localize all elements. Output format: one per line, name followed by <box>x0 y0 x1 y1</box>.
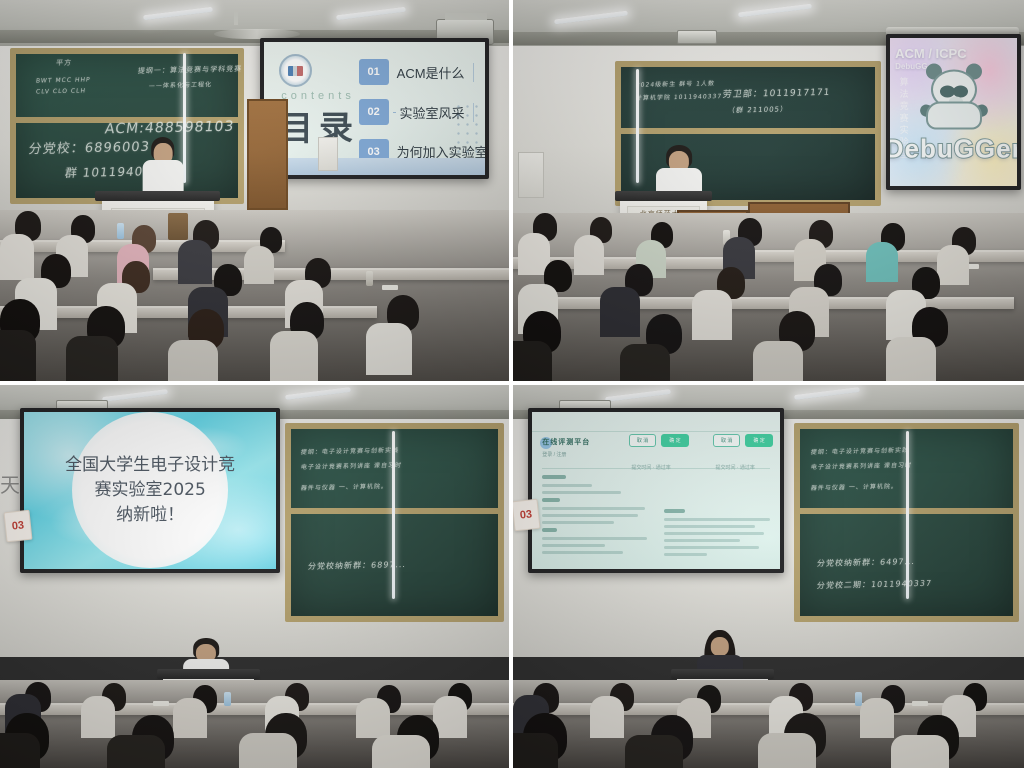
wall-graphic: 天 <box>0 469 21 498</box>
poster-badge: 03 <box>4 510 33 543</box>
agenda-item: 01 ACM是什么 <box>359 59 474 85</box>
collage-panel-bottom-left: 全国大学生电子设计竞 赛实验室2025 纳新啦！ 提纲：电子设计竞赛与创新实践 … <box>0 385 509 768</box>
collage-panel-bottom-right: 在线评测平台 登录 / 注册 取 消 确 定 取 消 确 定 提交时间 · 通过… <box>513 385 1024 768</box>
chalk-line: 器件与仪器 一、计算机院。 <box>810 481 898 492</box>
chalk-line: （群 211005） <box>727 105 788 116</box>
slide-text-block: 全国大学生电子设计竞 赛实验室2025 纳新啦！ <box>42 453 258 527</box>
chalk-line: 2024级新生 群号 1人数 <box>636 78 716 89</box>
button-group-right: 取 消 确 定 <box>713 434 773 447</box>
classroom-scene: 在线评测平台 登录 / 注册 取 消 确 定 取 消 确 定 提交时间 · 通过… <box>513 385 1024 768</box>
fan-rod <box>234 11 238 25</box>
app-subtitle: 登录 / 注册 <box>542 451 566 458</box>
chalk-line: BWT MCC HHP <box>36 76 92 84</box>
projection-screen: 全国大学生电子设计竞 赛实验室2025 纳新啦！ <box>20 408 280 573</box>
chalk-line: CLV CLO CLH <box>36 88 87 96</box>
hanging-cord <box>183 53 186 183</box>
chalk-line: 提纲：电子设计竞赛与创新实践 <box>810 445 909 456</box>
mascot-block: DebuGGer <box>890 66 1017 165</box>
chalk-line: 提纲一：算法竞赛与学科竞赛 <box>138 64 243 76</box>
agenda-dash-icon <box>393 112 396 113</box>
slide-footer-band <box>264 158 485 175</box>
confirm-button[interactable]: 确 定 <box>745 434 772 447</box>
chalk-line: 器件与仪器 一、计算机院。 <box>301 481 389 492</box>
blackboard: 2024级新生 群号 1人数 计算机学院 1011940337 劳卫部：1011… <box>615 61 881 206</box>
confirm-button[interactable]: 确 定 <box>661 434 688 447</box>
slide-recruitment: 全国大学生电子设计竞 赛实验室2025 纳新啦！ <box>24 412 276 569</box>
projection-screen: contents 目录 01 ACM是什么 02 实验室风采 <box>260 38 489 179</box>
classroom-scene: 全国大学生电子设计竞 赛实验室2025 纳新啦！ 提纲：电子设计竞赛与创新实践 … <box>0 385 509 768</box>
slide-wordmark: DebuGGer <box>890 134 1017 165</box>
chalk-line: 分党校二期：1011940337 <box>816 578 933 591</box>
university-seal-icon <box>279 54 312 87</box>
chalk-line: 计算机学院 1011940337 <box>636 91 723 102</box>
chalk-line: 电子设计竞赛系列讲座 课自习时 <box>301 460 403 471</box>
app-content-right <box>664 509 773 560</box>
door[interactable] <box>247 99 288 209</box>
chalk-line: 分党校纳新群：6497... <box>816 556 916 569</box>
audience <box>0 210 509 381</box>
agenda-label: ACM是什么 <box>397 63 474 82</box>
cancel-button[interactable]: 取 消 <box>713 434 740 447</box>
audience <box>513 213 1024 381</box>
thermos <box>366 271 373 286</box>
classroom-scene: 2024级新生 群号 1人数 计算机学院 1011940337 劳卫部：1011… <box>513 0 1024 381</box>
wall-panel <box>518 152 544 198</box>
poster-badge: 03 <box>513 499 540 532</box>
projection-screen: 在线评测平台 登录 / 注册 取 消 确 定 取 消 确 定 提交时间 · 通过… <box>528 408 784 573</box>
hanging-cord <box>636 69 639 183</box>
agenda-number: 01 <box>359 59 389 85</box>
slide-line: 赛实验室2025 <box>42 478 258 503</box>
chalk-line: 电子设计竞赛系列讲座 课自习时 <box>810 460 912 471</box>
divider <box>542 468 770 469</box>
chalk-line: 提纲：电子设计竞赛与创新实践 <box>301 445 400 456</box>
app-content-left <box>542 475 651 558</box>
slide-corner-sub: ACM / ICPC <box>895 46 967 61</box>
slide-mascot: ACM / ICPC DebuGGer 算法竞赛实验室 DebuGGer <box>890 38 1017 186</box>
app-title: 在线评测平台 <box>542 437 590 447</box>
chalk-line: 分党校：6896003 <box>28 136 152 158</box>
classroom-scene: 平方 BWT MCC HHP CLV CLO CLH 提纲一：算法竞赛与学科竞赛… <box>0 0 509 381</box>
ceiling-fan <box>214 29 300 39</box>
decorative-dot-grid <box>454 102 478 162</box>
water-bottle <box>224 692 231 706</box>
water-bottle <box>117 223 124 239</box>
audience <box>0 680 509 768</box>
slide-line: 纳新啦！ <box>42 503 258 528</box>
wall-panel <box>318 137 338 171</box>
chalk-line: ——体系化与工程化 <box>149 79 213 89</box>
chalk-line: 劳卫部：1011917171 <box>722 84 831 99</box>
app-meta-right: 提交时间 · 通过率 <box>715 464 754 471</box>
projection-screen: ACM / ICPC DebuGGer 算法竞赛实验室 DebuGGer <box>886 34 1021 190</box>
slide-line: 全国大学生电子设计竞 <box>42 453 258 478</box>
chalk-line: ACM:488598103 <box>104 119 235 138</box>
projector <box>677 30 717 44</box>
collage-panel-top-left: 平方 BWT MCC HHP CLV CLO CLH 提纲一：算法竞赛与学科竞赛… <box>0 0 509 381</box>
panda-mascot-icon <box>918 66 990 132</box>
cancel-button[interactable]: 取 消 <box>629 434 656 447</box>
agenda-number: 02 <box>359 99 389 125</box>
chalk-line: 平方 <box>56 58 73 68</box>
slide-contents: contents 目录 01 ACM是什么 02 实验室风采 <box>264 42 485 175</box>
app-header <box>532 412 780 432</box>
collage-panel-top-right: 2024级新生 群号 1人数 计算机学院 1011940337 劳卫部：1011… <box>513 0 1024 381</box>
slide-web-app: 在线评测平台 登录 / 注册 取 消 确 定 取 消 确 定 提交时间 · 通过… <box>532 412 780 569</box>
audience <box>513 680 1024 768</box>
photo-collage: 平方 BWT MCC HHP CLV CLO CLH 提纲一：算法竞赛与学科竞赛… <box>0 0 1024 768</box>
button-group-left: 取 消 确 定 <box>629 434 689 447</box>
app-meta-left: 提交时间 · 通过率 <box>631 464 670 471</box>
hanging-cord <box>392 431 395 600</box>
blackboard: 平方 BWT MCC HHP CLV CLO CLH 提纲一：算法竞赛与学科竞赛… <box>10 48 244 204</box>
